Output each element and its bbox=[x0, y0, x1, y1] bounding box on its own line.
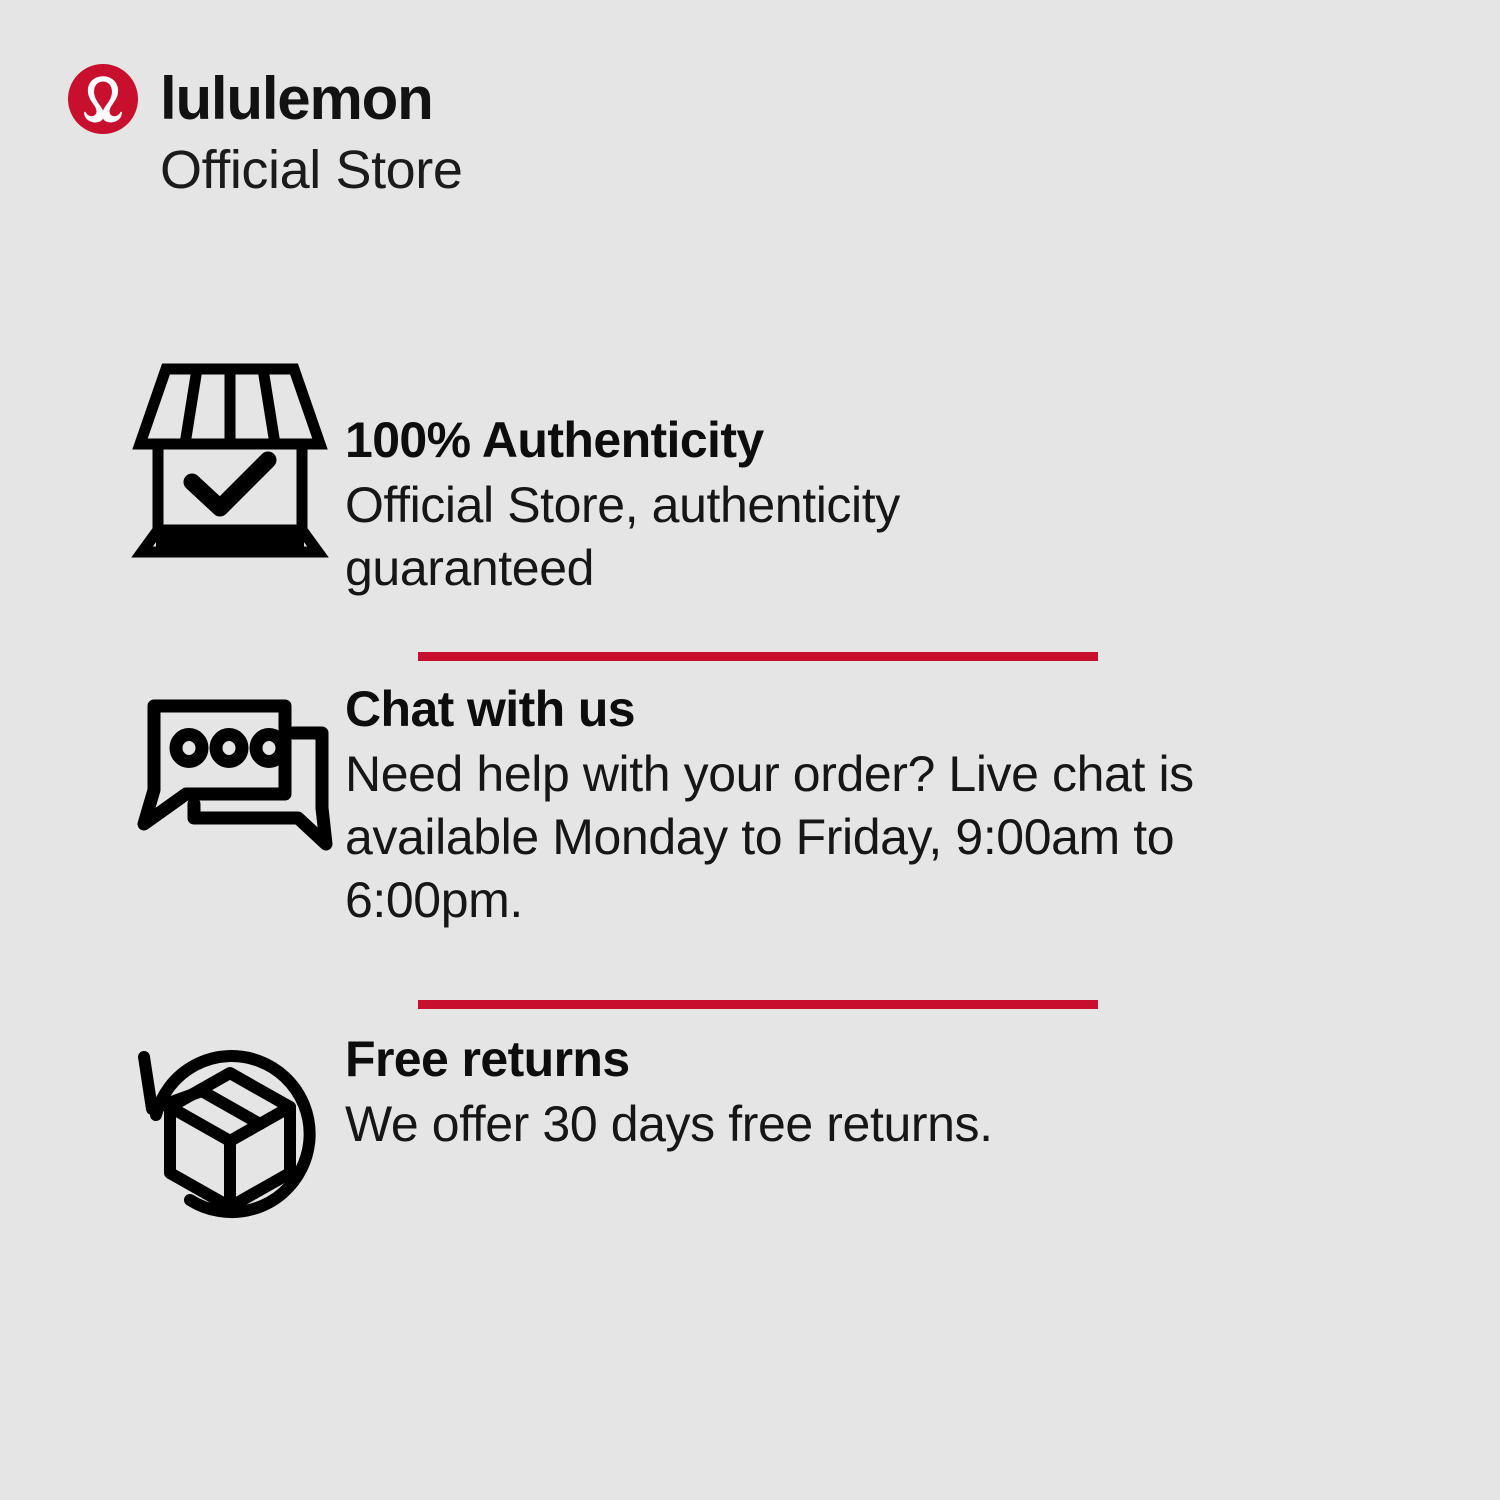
feature-item-chat: Chat with us Need help with your order? … bbox=[0, 661, 1500, 1006]
feature-description: Official Store, authenticity guaranteed bbox=[345, 474, 1085, 600]
feature-text-chat: Chat with us Need help with your order? … bbox=[345, 661, 1500, 932]
storefront-check-icon bbox=[130, 360, 345, 558]
feature-title: Chat with us bbox=[345, 681, 1390, 737]
brand-header: lululemon Official Store bbox=[68, 60, 968, 199]
lululemon-omega-logo-icon bbox=[68, 64, 138, 134]
feature-item-returns: Free returns We offer 30 days free retur… bbox=[0, 1009, 1500, 1269]
feature-description: We offer 30 days free returns. bbox=[345, 1093, 1305, 1156]
brand-name: lululemon bbox=[160, 69, 433, 129]
chat-bubbles-icon bbox=[130, 661, 345, 856]
brand-logo-row: lululemon bbox=[68, 60, 968, 138]
feature-description: Need help with your order? Live chat is … bbox=[345, 743, 1325, 932]
brand-subtitle: Official Store bbox=[160, 142, 968, 199]
feature-title: Free returns bbox=[345, 1031, 1390, 1087]
promo-banner: lululemon Official Store bbox=[0, 0, 1500, 1500]
feature-text-returns: Free returns We offer 30 days free retur… bbox=[345, 1009, 1500, 1156]
box-return-arrow-icon bbox=[130, 1009, 345, 1229]
feature-item-authenticity: 100% Authenticity Official Store, authen… bbox=[0, 360, 1500, 660]
feature-title: 100% Authenticity bbox=[345, 412, 1390, 468]
feature-text-authenticity: 100% Authenticity Official Store, authen… bbox=[345, 360, 1500, 600]
feature-list: 100% Authenticity Official Store, authen… bbox=[0, 360, 1500, 1269]
